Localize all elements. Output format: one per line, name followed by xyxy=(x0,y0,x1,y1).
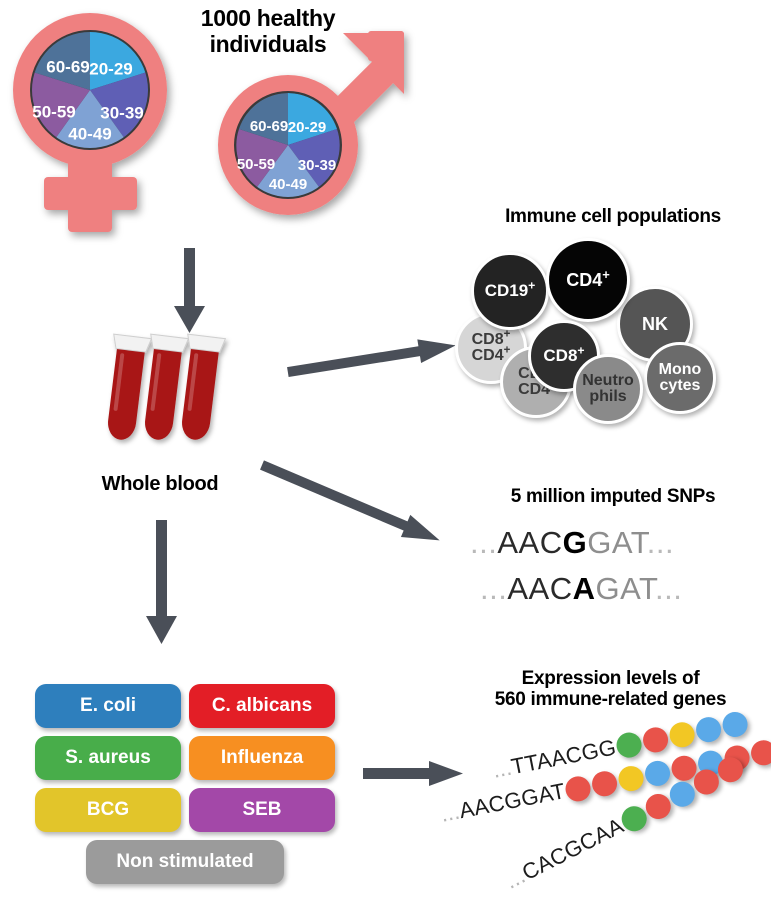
bead-yellow xyxy=(617,763,646,792)
stimulus-non-stimulated[interactable]: Non stimulated xyxy=(86,840,284,884)
strand-sequence: ...CACGCAA xyxy=(501,813,628,895)
snp-lead-ellipsis: ... xyxy=(470,525,497,560)
bead-blue xyxy=(643,758,672,787)
arrow-blood-to-immune xyxy=(288,328,463,388)
bead-yellow xyxy=(667,720,696,749)
female-symbol: 20-29 30-39 40-49 50-59 60-69 xyxy=(6,6,206,246)
stimulus-seb[interactable]: SEB xyxy=(189,788,335,832)
stimuli-panel: E. coli C. albicans S. aureus Influenza … xyxy=(35,684,335,892)
label-whole-blood: Whole blood xyxy=(60,473,260,495)
title-expression-line1: Expression levels of xyxy=(450,668,771,689)
snp-sequence-group: ...AACGGAT... ...AACAGAT... xyxy=(470,525,760,620)
cell-label: CD19+ xyxy=(485,282,536,299)
arrow-blood-to-stimuli xyxy=(140,520,186,648)
cell-neutrophils: Neutrophils xyxy=(573,354,643,424)
section-title-immune-cells: Immune cell populations xyxy=(455,206,771,227)
female-crossbar xyxy=(44,177,137,210)
snp-row-allele-g: ...AACGGAT... xyxy=(470,525,674,561)
blood-tube-1 xyxy=(101,334,151,442)
snp-variant-g: G xyxy=(563,525,588,560)
pie-label-20-29: 20-29 xyxy=(288,119,326,136)
pie-label-60-69: 60-69 xyxy=(250,118,288,135)
cell-monocytes: Monocytes xyxy=(644,342,716,414)
stimuli-row-4: Non stimulated xyxy=(35,840,335,884)
cell-label: CD8+ xyxy=(543,347,584,364)
pie-label-40-49: 40-49 xyxy=(269,176,307,193)
cell-cd4pos: CD4+ xyxy=(546,238,630,322)
cell-label: Monocytes xyxy=(659,362,702,395)
stimulus-c-albicans[interactable]: C. albicans xyxy=(189,684,335,728)
arrow-stimuli-to-expression xyxy=(363,755,468,795)
arrow-cohort-to-blood xyxy=(170,248,210,338)
title-expression-line2: 560 immune-related genes xyxy=(450,689,771,710)
blood-tubes-group xyxy=(100,330,240,460)
snp-row-allele-a: ...AACAGAT... xyxy=(480,571,682,607)
cell-label: CD4+ xyxy=(566,271,610,289)
pie-label-60-69: 60-69 xyxy=(46,57,89,76)
stimuli-row-2: S. aureus Influenza xyxy=(35,736,335,780)
section-title-expression: Expression levels of 560 immune-related … xyxy=(450,668,771,711)
bead-red xyxy=(749,738,771,767)
stimulus-e-coli[interactable]: E. coli xyxy=(35,684,181,728)
bead-red xyxy=(564,774,593,803)
pie-label-40-49: 40-49 xyxy=(68,124,111,143)
cell-label: Neutrophils xyxy=(582,373,634,406)
bead-blue xyxy=(720,709,749,738)
snp-flank-left: AAC xyxy=(497,525,562,560)
bead-red xyxy=(590,769,619,798)
section-title-snps: 5 million imputed SNPs xyxy=(455,486,771,507)
pie-label-30-39: 30-39 xyxy=(298,157,336,174)
bead-red xyxy=(641,725,670,754)
pie-label-50-59: 50-59 xyxy=(237,156,275,173)
stimuli-row-1: E. coli C. albicans xyxy=(35,684,335,728)
snp-flank-left: AAC xyxy=(507,571,572,606)
stimulus-influenza[interactable]: Influenza xyxy=(189,736,335,780)
stimulus-bcg[interactable]: BCG xyxy=(35,788,181,832)
expression-strand-group: ...TTAACGG ...AACGGAT ...CACGCAA xyxy=(455,730,771,915)
pie-label-50-59: 50-59 xyxy=(32,102,75,121)
bead-blue xyxy=(694,714,723,743)
stimulus-s-aureus[interactable]: S. aureus xyxy=(35,736,181,780)
bead-green xyxy=(614,730,643,759)
arrow-blood-to-snps xyxy=(262,455,462,550)
pie-label-30-39: 30-39 xyxy=(100,103,143,122)
snp-trail-ellipsis: ... xyxy=(647,525,674,560)
cell-label: NK xyxy=(642,315,668,333)
stimuli-row-3: BCG SEB xyxy=(35,788,335,832)
snp-lead-ellipsis: ... xyxy=(480,571,507,606)
cell-cd19pos: CD19+ xyxy=(471,252,549,330)
strand-sequence: ...AACGGAT xyxy=(439,778,568,828)
cell-label: CD8+CD4+ xyxy=(472,332,511,365)
male-symbol: 20-29 30-39 40-49 50-59 60-69 xyxy=(205,28,420,243)
snp-variant-a: A xyxy=(573,571,596,606)
snp-flank-right: GAT xyxy=(595,571,655,606)
snp-trail-ellipsis: ... xyxy=(655,571,682,606)
snp-flank-right: GAT xyxy=(587,525,647,560)
male-arrow-cap-v xyxy=(374,31,404,67)
pie-label-20-29: 20-29 xyxy=(89,59,132,78)
immune-cell-population-group: CD8+CD4+ CD8-CD4- CD19+ NK CD4+ CD8+ Mon… xyxy=(455,236,771,418)
